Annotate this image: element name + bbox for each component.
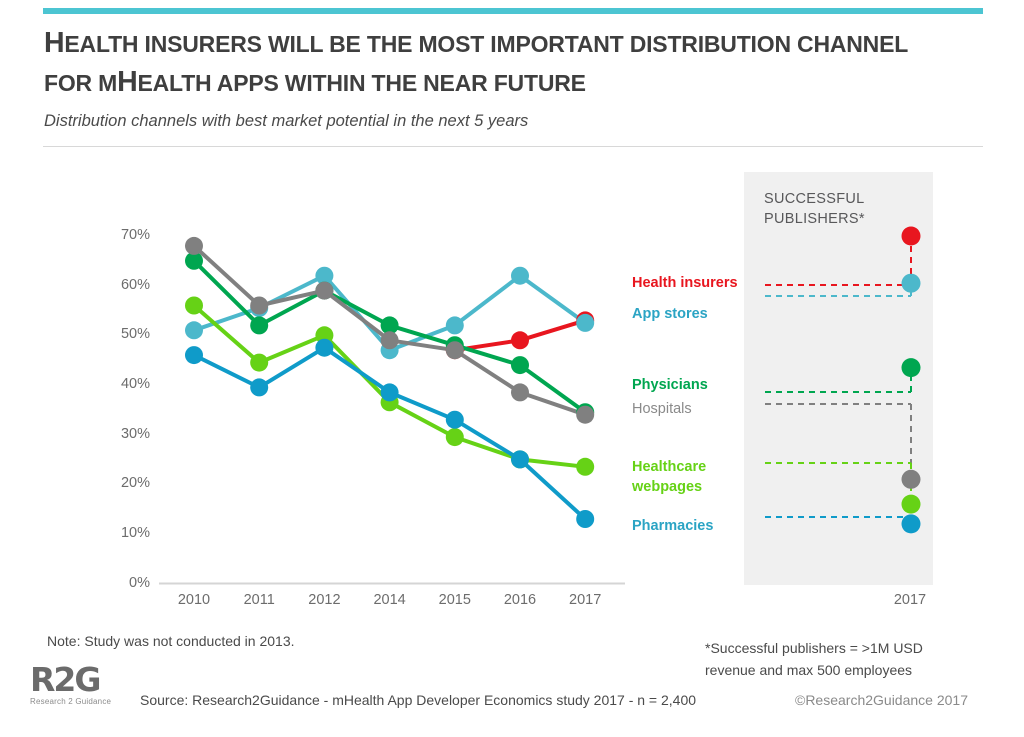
y-axis-tick-60: 60% [108, 277, 150, 293]
data-point [381, 331, 399, 349]
panel-data-point [902, 495, 921, 514]
logo-mark: R2G [30, 663, 130, 696]
panel-data-point [902, 514, 921, 533]
x-axis-tick-2010: 2010 [164, 592, 224, 608]
data-point [315, 282, 333, 300]
data-point [446, 316, 464, 334]
series-line-pharmacies [194, 348, 585, 519]
panel-data-point [902, 227, 921, 246]
panel-data-point [902, 358, 921, 377]
data-point [576, 458, 594, 476]
x-axis-tick-2011: 2011 [229, 592, 289, 608]
chart-canvas [0, 0, 1024, 737]
copyright-text: ©Research2Guidance 2017 [795, 692, 968, 708]
data-point [250, 297, 268, 315]
legend-item-app-stores[interactable]: App stores [632, 305, 708, 324]
x-axis-tick-2017: 2017 [555, 592, 615, 608]
data-point [446, 428, 464, 446]
data-point [381, 383, 399, 401]
y-axis-tick-20: 20% [108, 475, 150, 491]
line-chart [0, 0, 1024, 737]
asterisk-note-line-2: revenue and max 500 employees [705, 662, 912, 678]
legend-item-healthcare[interactable]: Healthcare [632, 458, 706, 477]
y-axis-tick-40: 40% [108, 376, 150, 392]
data-point [576, 406, 594, 424]
study-note: Note: Study was not conducted in 2013. [47, 633, 295, 649]
data-point [315, 339, 333, 357]
data-point [511, 331, 529, 349]
panel-data-point [902, 274, 921, 293]
data-point [446, 411, 464, 429]
y-axis-tick-70: 70% [108, 227, 150, 243]
legend-item-physicians[interactable]: Physicians [632, 376, 708, 395]
legend-item-pharmacies[interactable]: Pharmacies [632, 517, 713, 536]
data-point [576, 314, 594, 332]
data-point [185, 237, 203, 255]
y-axis-tick-10: 10% [108, 525, 150, 541]
data-point [511, 383, 529, 401]
legend-item-webpages[interactable]: webpages [632, 478, 702, 497]
x-axis-tick-2012: 2012 [294, 592, 354, 608]
y-axis-tick-30: 30% [108, 426, 150, 442]
asterisk-note-line-1: *Successful publishers = >1M USD [705, 640, 923, 656]
y-axis-tick-50: 50% [108, 326, 150, 342]
data-point [446, 341, 464, 359]
data-point [185, 346, 203, 364]
data-point [250, 378, 268, 396]
x-axis-tick-2016: 2016 [490, 592, 550, 608]
y-axis-tick-0: 0% [108, 575, 150, 591]
asterisk-note: *Successful publishers = >1M USD revenue… [705, 637, 923, 681]
data-point [511, 356, 529, 374]
legend-item-hospitals[interactable]: Hospitals [632, 400, 692, 419]
logo-subtitle: Research 2 Guidance [30, 697, 130, 706]
data-point [185, 321, 203, 339]
data-point [185, 297, 203, 315]
data-point [511, 450, 529, 468]
data-point [250, 354, 268, 372]
panel-data-point [902, 470, 921, 489]
data-point [576, 510, 594, 528]
source-text: Source: Research2Guidance - mHealth App … [140, 692, 696, 708]
data-point [511, 267, 529, 285]
r2g-logo: R2G Research 2 Guidance [30, 663, 130, 706]
legend-item-health-insurers[interactable]: Health insurers [632, 274, 738, 293]
x-axis-tick-2015: 2015 [425, 592, 485, 608]
x-axis-tick-2014: 2014 [360, 592, 420, 608]
data-point [250, 316, 268, 334]
